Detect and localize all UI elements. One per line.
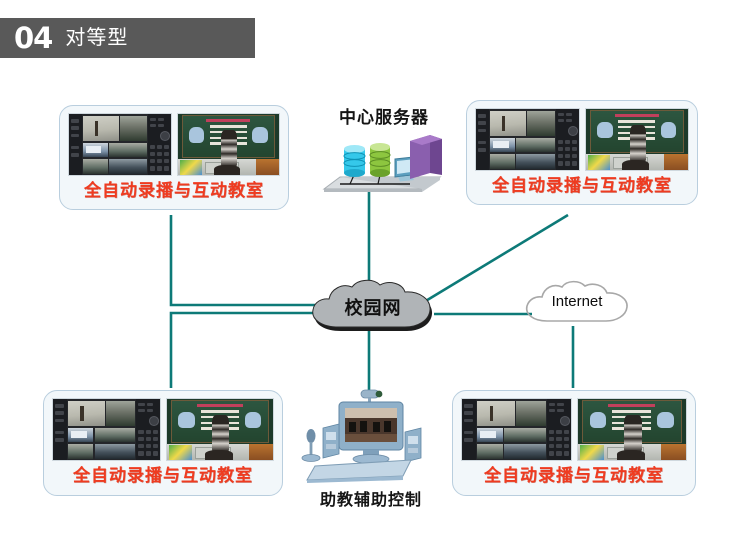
classroom-media-strip [52,398,274,461]
recording-console-icon [52,398,161,461]
classroom-media-strip [68,113,280,176]
recording-console-icon [475,108,580,171]
assistant-workstation-label: 助教辅助控制 [293,486,449,510]
classroom-node-top-right[interactable]: 全自动录播与互动教室 [466,100,698,205]
section-header-bar: 04 对等型 [0,18,255,58]
classroom-node-bottom-left[interactable]: 全自动录播与互动教室 [43,390,283,496]
classroom-node-bottom-right[interactable]: 全自动录播与互动教室 [452,390,696,496]
interactive-classroom-icon [177,113,281,176]
classroom-caption: 全自动录播与互动教室 [52,465,274,488]
server-tower-icon [410,127,442,179]
interactive-classroom-icon [166,398,275,461]
classroom-caption: 全自动录播与互动教室 [461,465,687,488]
internet-cloud-node[interactable]: Internet [521,279,633,329]
microphone-icon [302,429,320,462]
central-server-label: 中心服务器 [318,103,450,128]
classroom-node-top-left[interactable]: 全自动录播与互动教室 [59,105,289,210]
classroom-media-strip [461,398,687,461]
campus-network-cloud-node[interactable]: 校园网 [305,277,441,335]
interactive-classroom-icon [577,398,688,461]
speaker-left-icon [323,424,339,458]
central-server-node[interactable]: 中心服务器 [318,103,450,193]
monitor-icon [339,402,403,464]
recording-console-icon [68,113,172,176]
campus-network-label: 校园网 [305,294,441,320]
keyboard-icon [307,460,411,483]
database-cylinder-cyan-icon [344,145,365,177]
classroom-caption: 全自动录播与互动教室 [475,175,689,198]
camera-icon [361,390,382,403]
interactive-classroom-icon [585,108,690,171]
classroom-media-strip [475,108,689,171]
assistant-workstation-node[interactable]: 助教辅助控制 [293,388,449,508]
recording-console-icon [461,398,572,461]
section-number: 04 [14,24,52,53]
central-server-icon [318,127,450,193]
classroom-caption: 全自动录播与互动教室 [68,180,280,203]
internet-label: Internet [521,293,633,310]
page-title: 对等型 [65,28,128,48]
speaker-right-icon [405,428,421,462]
database-cylinder-green-icon [370,143,390,177]
assistant-workstation-icon [293,388,449,484]
